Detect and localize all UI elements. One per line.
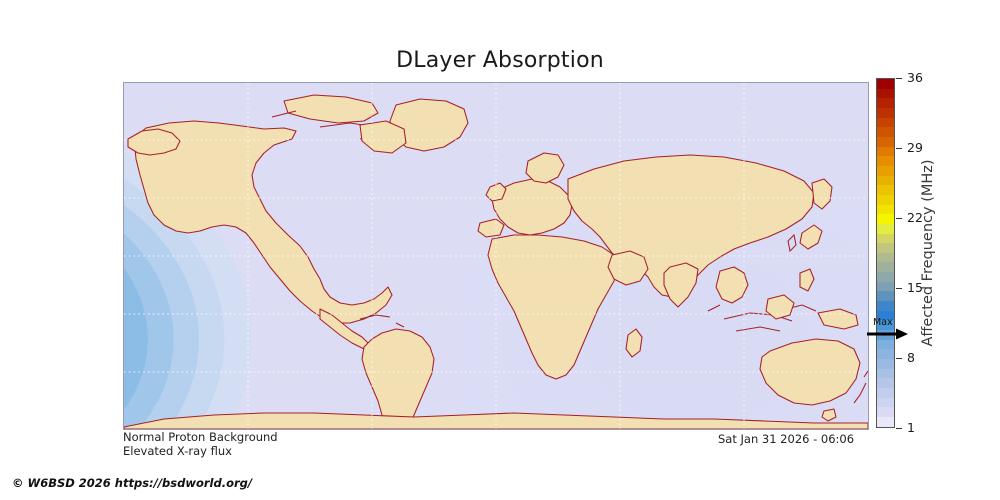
tick-mark [896,78,902,79]
colorbar-segment [877,224,894,234]
colorbar-segment [877,147,894,157]
tick-mark [896,218,902,219]
colorbar-segment [877,156,894,166]
colorbar-segment [877,369,894,379]
colorbar-segment [877,118,894,128]
colorbar-segment [877,195,894,205]
colorbar-segment [877,127,894,137]
tick-mark [896,148,902,149]
colorbar-segment [877,417,894,427]
colorbar-max-marker: Max [866,318,910,344]
colorbar-segment [877,378,894,388]
colorbar-segment [877,388,894,398]
colorbar-segment [877,79,894,89]
tick-label: 8 [907,350,915,365]
colorbar-segment [877,272,894,282]
tick-mark [896,288,902,289]
colorbar-segment [877,262,894,272]
map-canvas [124,83,868,429]
credit-line: © W6BSD 2026 https://bsdworld.org/ [12,476,252,490]
annotation-line-2: Elevated X-ray flux [123,444,232,458]
annotation-line-1: Normal Proton Background [123,430,278,444]
colorbar-segment [877,407,894,417]
colorbar-segment [877,89,894,99]
colorbar-tick: 1 [896,428,942,429]
colorbar-segment [877,234,894,244]
colorbar-axis-label: Affected Frequency (MHz) [917,78,939,428]
colorbar-segment [877,185,894,195]
tick-mark [896,428,902,429]
colorbar-segment [877,205,894,215]
colorbar-segment [877,176,894,186]
colorbar-segment [877,291,894,301]
colorbar-segment [877,108,894,118]
world-map [123,82,869,430]
colorbar-segment [877,137,894,147]
tick-mark [896,358,902,359]
timestamp: Sat Jan 31 2026 - 06:06 [718,432,854,446]
tick-label: 1 [907,420,915,435]
colorbar-segment [877,282,894,292]
page-title: DLayer Absorption [0,48,1000,73]
colorbar-segment [877,253,894,263]
colorbar-segment [877,214,894,224]
colorbar-segment [877,301,894,311]
colorbar-segment [877,349,894,359]
colorbar-segment [877,98,894,108]
arrow-right-icon [866,328,910,342]
colorbar-segment [877,243,894,253]
colorbar-segment [877,398,894,408]
colorbar-segment [877,359,894,369]
max-marker-label: Max [873,317,893,328]
colorbar [876,78,895,428]
colorbar-segment [877,166,894,176]
figure-root: DLayer Absorption [0,0,1000,500]
